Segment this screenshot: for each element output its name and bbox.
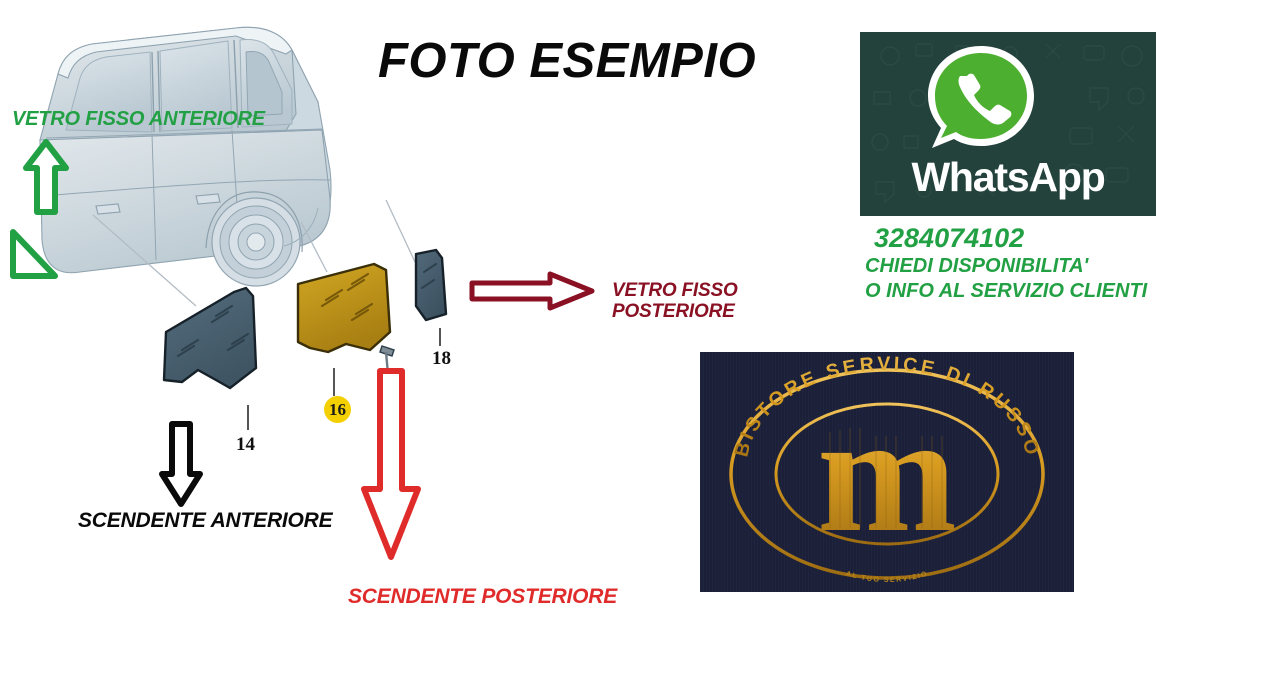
glass-part-14 [164,288,256,388]
whatsapp-phone-bubble-icon [922,40,1040,158]
contact-line-customer-service: O INFO AL SERVIZIO CLIENTI [862,279,1202,305]
green-up-arrow-icon [22,138,70,218]
image-canvas: 14 17 18 16 FOTO ESEMPIO VETRO FISSO ANT… [0,0,1264,678]
page-title: FOTO ESEMPIO [378,34,756,89]
shop-logo-photo: MRICAMBISTORE SERVICE DI RUSSO MARCO m A… [700,352,1074,592]
contact-phone-number[interactable]: 3284074102 [862,224,1202,254]
green-triangle-pointer-icon [8,228,60,280]
part-number-badge-16: 16 [324,396,351,423]
glass-part-16 [298,264,390,352]
svg-text:m: m [817,381,957,567]
black-down-arrow-icon [158,420,204,508]
label-scendente-posteriore: SCENDENTE POSTERIORE [348,585,617,609]
shop-logo-monogram: m [817,381,957,567]
whatsapp-banner[interactable]: WhatsApp [860,32,1156,216]
label-scendente-anteriore: SCENDENTE ANTERIORE [78,509,332,533]
red-down-arrow-icon [360,367,422,563]
part-number-14: 14 [236,434,255,456]
contact-block: 3284074102 CHIEDI DISPONIBILITA' O INFO … [862,224,1202,305]
dark-red-right-arrow-icon [468,270,596,312]
contact-line-availability: CHIEDI DISPONIBILITA' [862,254,1202,280]
shop-logo-emblem: MRICAMBISTORE SERVICE DI RUSSO MARCO m A… [700,352,1074,592]
label-vetro-fisso-posteriore: VETRO FISSO POSTERIORE [612,280,738,323]
glass-part-18 [416,250,446,320]
label-vetro-fisso-anteriore: VETRO FISSO ANTERIORE [12,108,265,130]
whatsapp-wordmark: WhatsApp [860,154,1156,201]
part-number-18: 18 [432,348,451,370]
